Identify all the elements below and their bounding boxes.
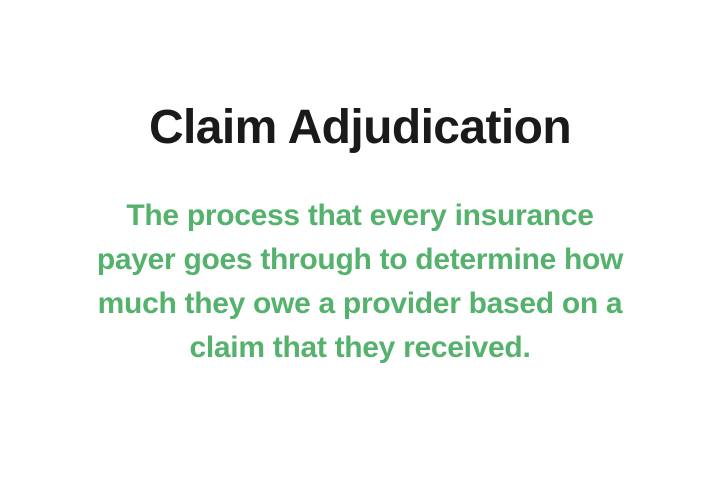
- definition-line: payer goes through to determine how: [46, 238, 674, 282]
- definition-text: The process that every insurance payer g…: [46, 194, 674, 370]
- definition-line: much they owe a provider based on a: [46, 282, 674, 326]
- definition-card: Claim Adjudication The process that ever…: [0, 0, 720, 480]
- definition-line: The process that every insurance: [46, 194, 674, 238]
- definition-line: claim that they received.: [46, 326, 674, 370]
- page-title: Claim Adjudication: [0, 102, 720, 154]
